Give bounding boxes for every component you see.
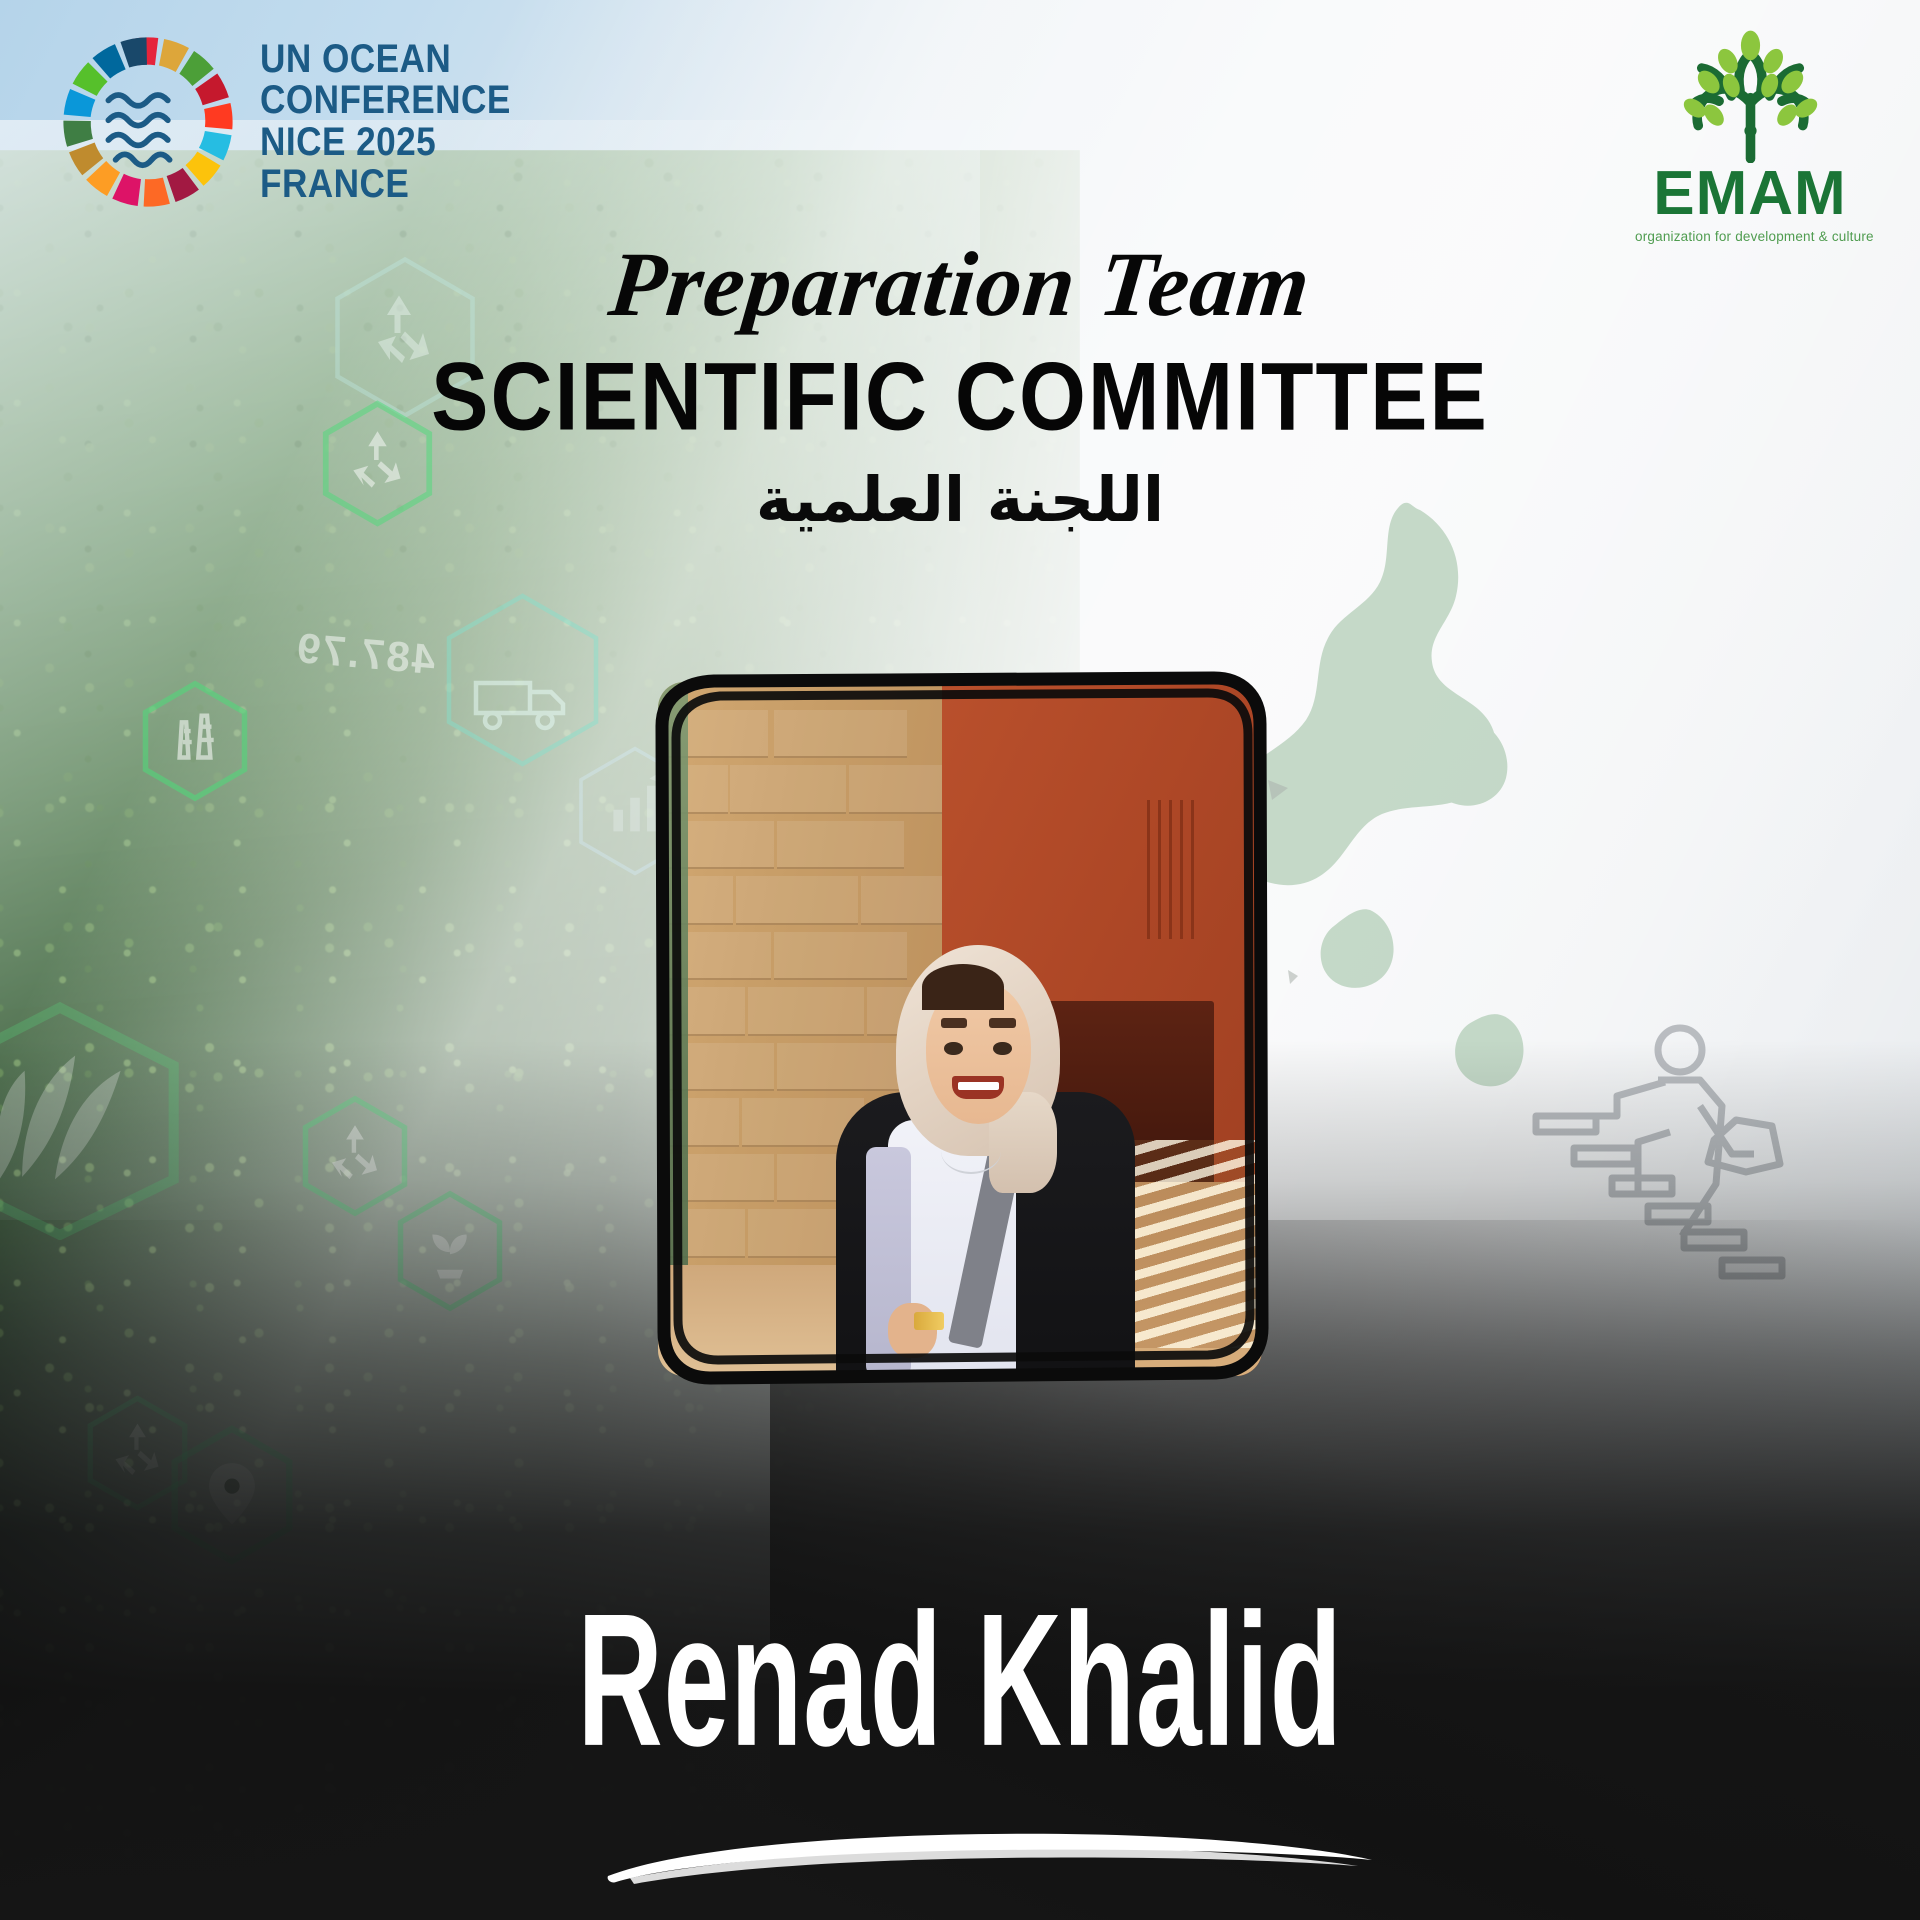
un-logo-line-2: CONFERENCE	[260, 80, 511, 122]
member-name: Renad Khalid	[250, 1586, 1671, 1775]
gold-watch	[914, 1312, 944, 1330]
sdg-wave-wheel-icon	[58, 32, 238, 212]
portrait-photo	[658, 682, 1262, 1376]
un-logo-text: UN OCEAN CONFERENCE NICE 2025 FRANCE	[260, 39, 511, 205]
arabic-subtitle: اللجنة العلمية	[0, 466, 1920, 534]
eyebrow-left	[941, 1018, 967, 1028]
poster-canvas: 487.79	[0, 0, 1920, 1920]
brush-stroke-underline	[600, 1818, 1380, 1908]
wireframe-hex-truck	[440, 590, 605, 770]
un-logo-line-3: NICE 2025	[260, 122, 511, 164]
un-logo-line-1: UN OCEAN	[260, 39, 511, 81]
hex-power-tower-icon	[140, 680, 250, 802]
tree-icon	[1663, 28, 1838, 163]
hand	[888, 1303, 937, 1358]
teeth	[958, 1082, 999, 1090]
preparation-team-heading: Preparation Team	[605, 238, 1315, 330]
un-logo-line-4: FRANCE	[260, 164, 511, 206]
eyebrow-right	[989, 1018, 1015, 1028]
portrait-card	[640, 660, 1280, 1400]
necklace	[941, 1129, 1001, 1175]
emam-wordmark: EMAM	[1635, 165, 1865, 224]
eye-right	[993, 1042, 1012, 1056]
un-ocean-conference-logo: UN OCEAN CONFERENCE NICE 2025 FRANCE	[58, 32, 545, 212]
heading-block: Preparation Team SCIENTIFIC COMMITTEE ال…	[0, 238, 1920, 534]
hair-fringe	[922, 964, 1004, 1010]
portrait-subject	[791, 918, 1165, 1376]
emam-logo: EMAM organization for development & cult…	[1635, 28, 1865, 244]
page-title: SCIENTIFIC COMMITTEE	[0, 349, 1920, 445]
